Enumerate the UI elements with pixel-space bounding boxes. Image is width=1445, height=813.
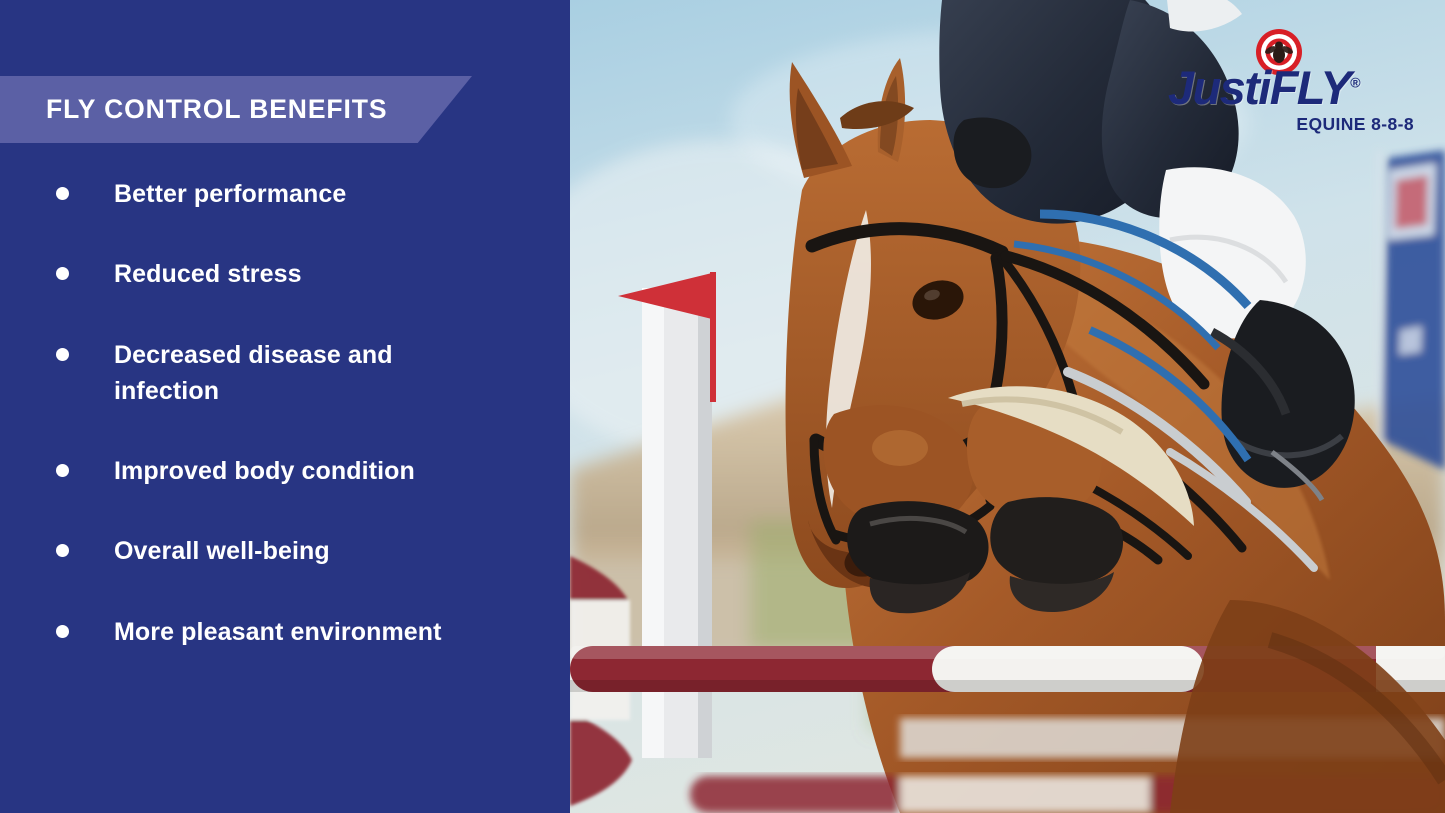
logo-wordmark-text: JustiFLY bbox=[1168, 61, 1350, 114]
benefit-label: Improved body condition bbox=[114, 453, 415, 489]
logo-wordmark: JustiFLY® bbox=[1168, 60, 1361, 115]
benefit-label: Reduced stress bbox=[114, 256, 302, 292]
list-item: Improved body condition bbox=[0, 453, 570, 489]
slide-root: FLY CONTROL BENEFITS Better performance … bbox=[0, 0, 1445, 813]
list-item: Better performance bbox=[0, 176, 570, 212]
bullet-dot-icon bbox=[56, 625, 69, 638]
bullet-dot-icon bbox=[56, 267, 69, 280]
page-title: FLY CONTROL BENEFITS bbox=[46, 76, 387, 143]
bullet-dot-icon bbox=[56, 187, 69, 200]
list-item: Decreased disease and infection bbox=[0, 337, 570, 410]
left-content-panel: FLY CONTROL BENEFITS Better performance … bbox=[0, 0, 570, 813]
logo-tagline: EQUINE 8-8-8 bbox=[1296, 114, 1414, 135]
list-item: Reduced stress bbox=[0, 256, 570, 292]
benefit-label: Decreased disease and infection bbox=[114, 337, 499, 410]
justifly-logo: JustiFLY® EQUINE 8-8-8 bbox=[1168, 28, 1418, 140]
registered-mark-icon: ® bbox=[1350, 74, 1360, 90]
benefit-label: Overall well-being bbox=[114, 533, 330, 569]
benefits-list: Better performance Reduced stress Decrea… bbox=[0, 176, 570, 694]
list-item: Overall well-being bbox=[0, 533, 570, 569]
bullet-dot-icon bbox=[56, 464, 69, 477]
benefit-label: Better performance bbox=[114, 176, 346, 212]
bullet-dot-icon bbox=[56, 348, 69, 361]
bullet-dot-icon bbox=[56, 544, 69, 557]
list-item: More pleasant environment bbox=[0, 614, 570, 650]
benefit-label: More pleasant environment bbox=[114, 614, 442, 650]
